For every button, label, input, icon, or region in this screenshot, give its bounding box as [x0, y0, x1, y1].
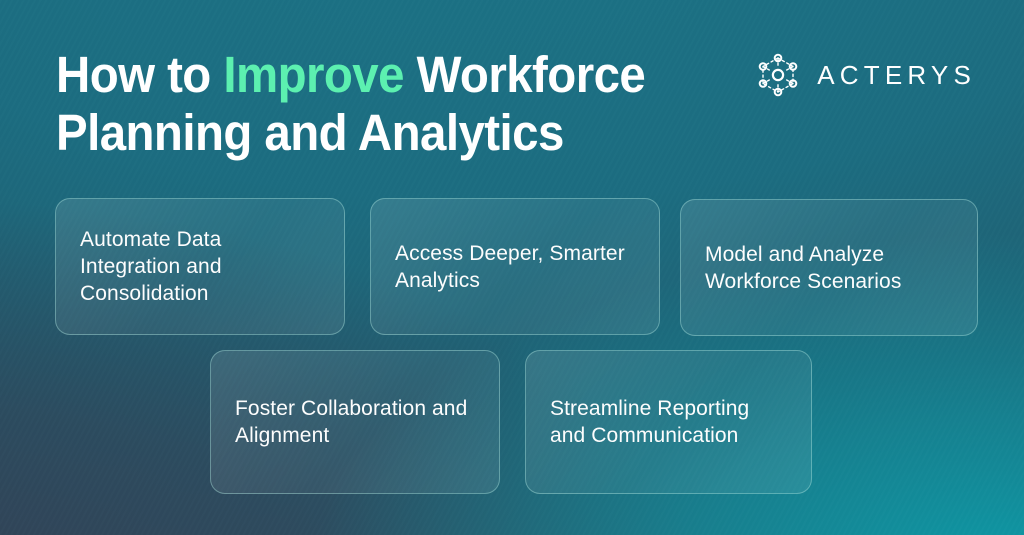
card-automate-data-integration[interactable]: Automate Data Integration and Consolidat… [55, 198, 345, 335]
hexagon-node-network-icon [753, 50, 803, 100]
page-title: How to Improve Workforce Planning and An… [56, 46, 726, 162]
card-label: Foster Collaboration and Alignment [211, 395, 499, 449]
card-label: Access Deeper, Smarter Analytics [371, 240, 659, 294]
card-streamline-reporting[interactable]: Streamline Reporting and Communication [525, 350, 812, 494]
card-model-analyze-scenarios[interactable]: Model and Analyze Workforce Scenarios [680, 199, 978, 336]
card-label: Streamline Reporting and Communication [526, 395, 811, 449]
card-foster-collaboration[interactable]: Foster Collaboration and Alignment [210, 350, 500, 494]
infographic-canvas: How to Improve Workforce Planning and An… [0, 0, 1024, 535]
title-segment-1: How to [56, 46, 223, 103]
title-accent-word: Improve [223, 46, 404, 103]
logo-wordmark: ACTERYS [817, 62, 976, 88]
card-label: Model and Analyze Workforce Scenarios [681, 241, 977, 295]
brand-logo: ACTERYS [753, 50, 976, 100]
card-access-deeper-analytics[interactable]: Access Deeper, Smarter Analytics [370, 198, 660, 335]
card-label: Automate Data Integration and Consolidat… [56, 226, 344, 307]
